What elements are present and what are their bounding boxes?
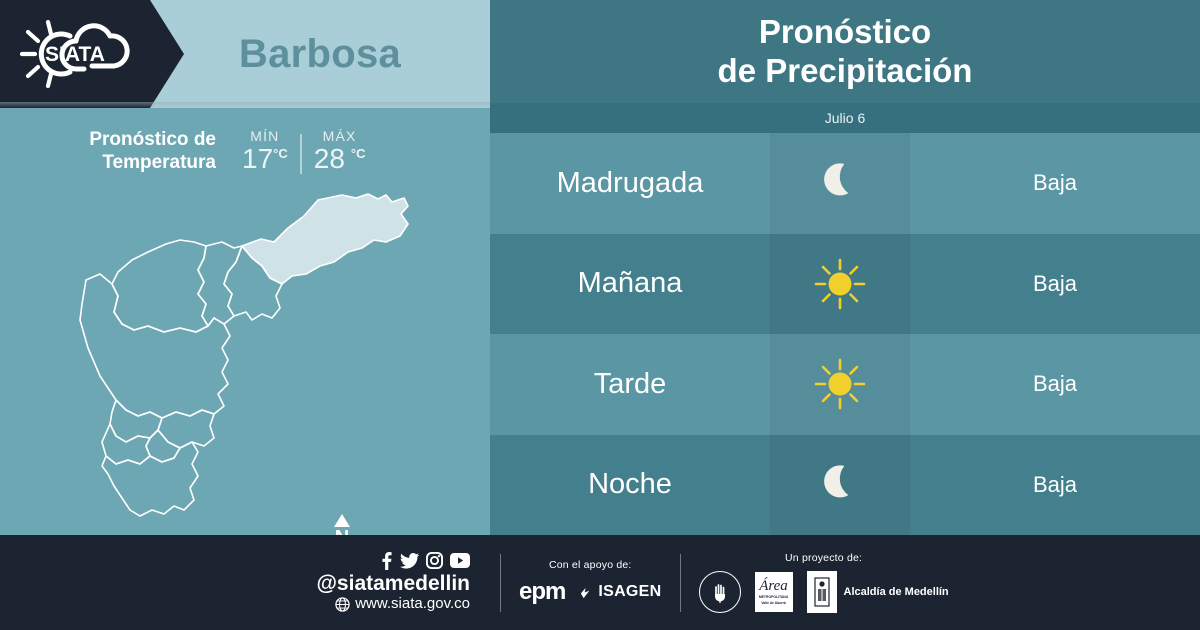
max-unit: °C (351, 147, 366, 160)
city-name: Barbosa (150, 0, 490, 108)
area-name: Área (759, 579, 788, 594)
min-temperature: MÍN 17 °C (230, 128, 300, 173)
precipitation-header: Pronóstico de Precipitación (490, 0, 1200, 103)
left-panel: SIATA Barbosa Pronóstico de Temperatura … (0, 0, 490, 535)
area-metropolitana-logo: Área METROPOLITANA Valle de Aburrá (755, 572, 793, 612)
table-row: Tarde (490, 334, 1200, 435)
moon-icon (770, 435, 910, 536)
forecast-date-band: Julio 6 (490, 103, 1200, 133)
project-block: Un proyecto de: Área METROPOLITANA Valle… (681, 552, 967, 613)
precipitation-title-line2: de Precipitación (718, 52, 973, 91)
probability-value: Baja (910, 371, 1200, 397)
north-label: N (335, 527, 349, 535)
website-url: www.siata.gov.co (355, 595, 470, 613)
isagen-text: ISAGEN (598, 583, 661, 601)
table-row: Madrugada Baja (490, 133, 1200, 234)
forecast-date: Julio 6 (825, 110, 865, 126)
alcaldia-label: Alcaldía de Medellín (844, 586, 949, 598)
website-line[interactable]: www.siata.gov.co (335, 595, 470, 613)
probability-value: Baja (910, 472, 1200, 498)
temperature-title-line1: Pronóstico de (0, 128, 216, 151)
hand-seal-icon (707, 579, 733, 605)
facebook-icon[interactable] (379, 552, 393, 570)
min-label: MÍN (250, 128, 279, 144)
north-arrow-icon (334, 514, 350, 527)
right-panel: Pronóstico de Precipitación Julio 6 Madr… (490, 0, 1200, 535)
max-label: MÁX (323, 128, 357, 144)
social-block: @siatamedellin www.siata.gov.co (0, 552, 500, 614)
period-label: Mañana (490, 267, 770, 300)
min-value: 17 (242, 145, 273, 173)
youtube-icon[interactable] (450, 553, 470, 568)
period-label: Tarde (490, 368, 770, 401)
map-region-bello (112, 240, 208, 332)
siata-logo-text: SIATA (45, 43, 105, 66)
moon-icon (770, 133, 910, 234)
probability-value: Baja (910, 170, 1200, 196)
project-caption: Un proyecto de: (785, 552, 862, 564)
max-value: 28 (314, 145, 345, 173)
min-unit: °C (273, 147, 288, 160)
support-block: Con el apoyo de: epm ISAGEN (501, 559, 680, 606)
probability-value: Baja (910, 271, 1200, 297)
weather-forecast-poster: SIATA Barbosa Pronóstico de Temperatura … (0, 0, 1200, 630)
support-caption: Con el apoyo de: (549, 559, 632, 571)
precipitation-title-line1: Pronóstico (759, 13, 931, 52)
period-label: Noche (490, 468, 770, 501)
temperature-title-line2: Temperatura (0, 151, 216, 174)
instagram-icon[interactable] (426, 552, 443, 569)
sun-icon (770, 334, 910, 435)
table-row: Noche Baja (490, 435, 1200, 536)
isagen-logo: ISAGEN (579, 583, 661, 601)
map-region-medellin (80, 274, 230, 418)
twitter-icon[interactable] (400, 552, 419, 570)
sun-icon (770, 234, 910, 335)
period-label: Madrugada (490, 167, 770, 200)
map-region-envigado (158, 410, 214, 448)
precipitation-table: Madrugada Baja Mañana (490, 133, 1200, 535)
aburra-valley-map: N (56, 184, 446, 534)
north-arrow: N (334, 514, 350, 535)
left-header: SIATA Barbosa (0, 0, 490, 108)
universidad-medellin-logo (699, 571, 741, 613)
footer: @siatamedellin www.siata.gov.co Con el a… (0, 535, 1200, 630)
sun-cloud-icon: SIATA (14, 14, 136, 94)
area-sub2: Valle de Aburrá (761, 601, 786, 605)
epm-logo: epm (519, 578, 565, 606)
map-region-caldas (102, 442, 198, 516)
map-region-itagui (110, 400, 162, 442)
temperature-summary: Pronóstico de Temperatura MÍN 17 °C MÁX … (0, 118, 490, 184)
max-temperature: MÁX 28 °C (302, 128, 378, 173)
alcaldia-crest-icon (807, 571, 837, 613)
isagen-mark-icon (579, 585, 594, 600)
social-icons (379, 552, 470, 570)
social-handle[interactable]: @siatamedellin (316, 572, 470, 596)
area-sub1: METROPOLITANA (759, 595, 788, 599)
map-region-barbosa (242, 194, 408, 284)
alcaldia-logo: Alcaldía de Medellín (807, 571, 949, 613)
globe-icon (335, 597, 350, 612)
table-row: Mañana (490, 234, 1200, 335)
temperature-title: Pronóstico de Temperatura (0, 128, 230, 174)
